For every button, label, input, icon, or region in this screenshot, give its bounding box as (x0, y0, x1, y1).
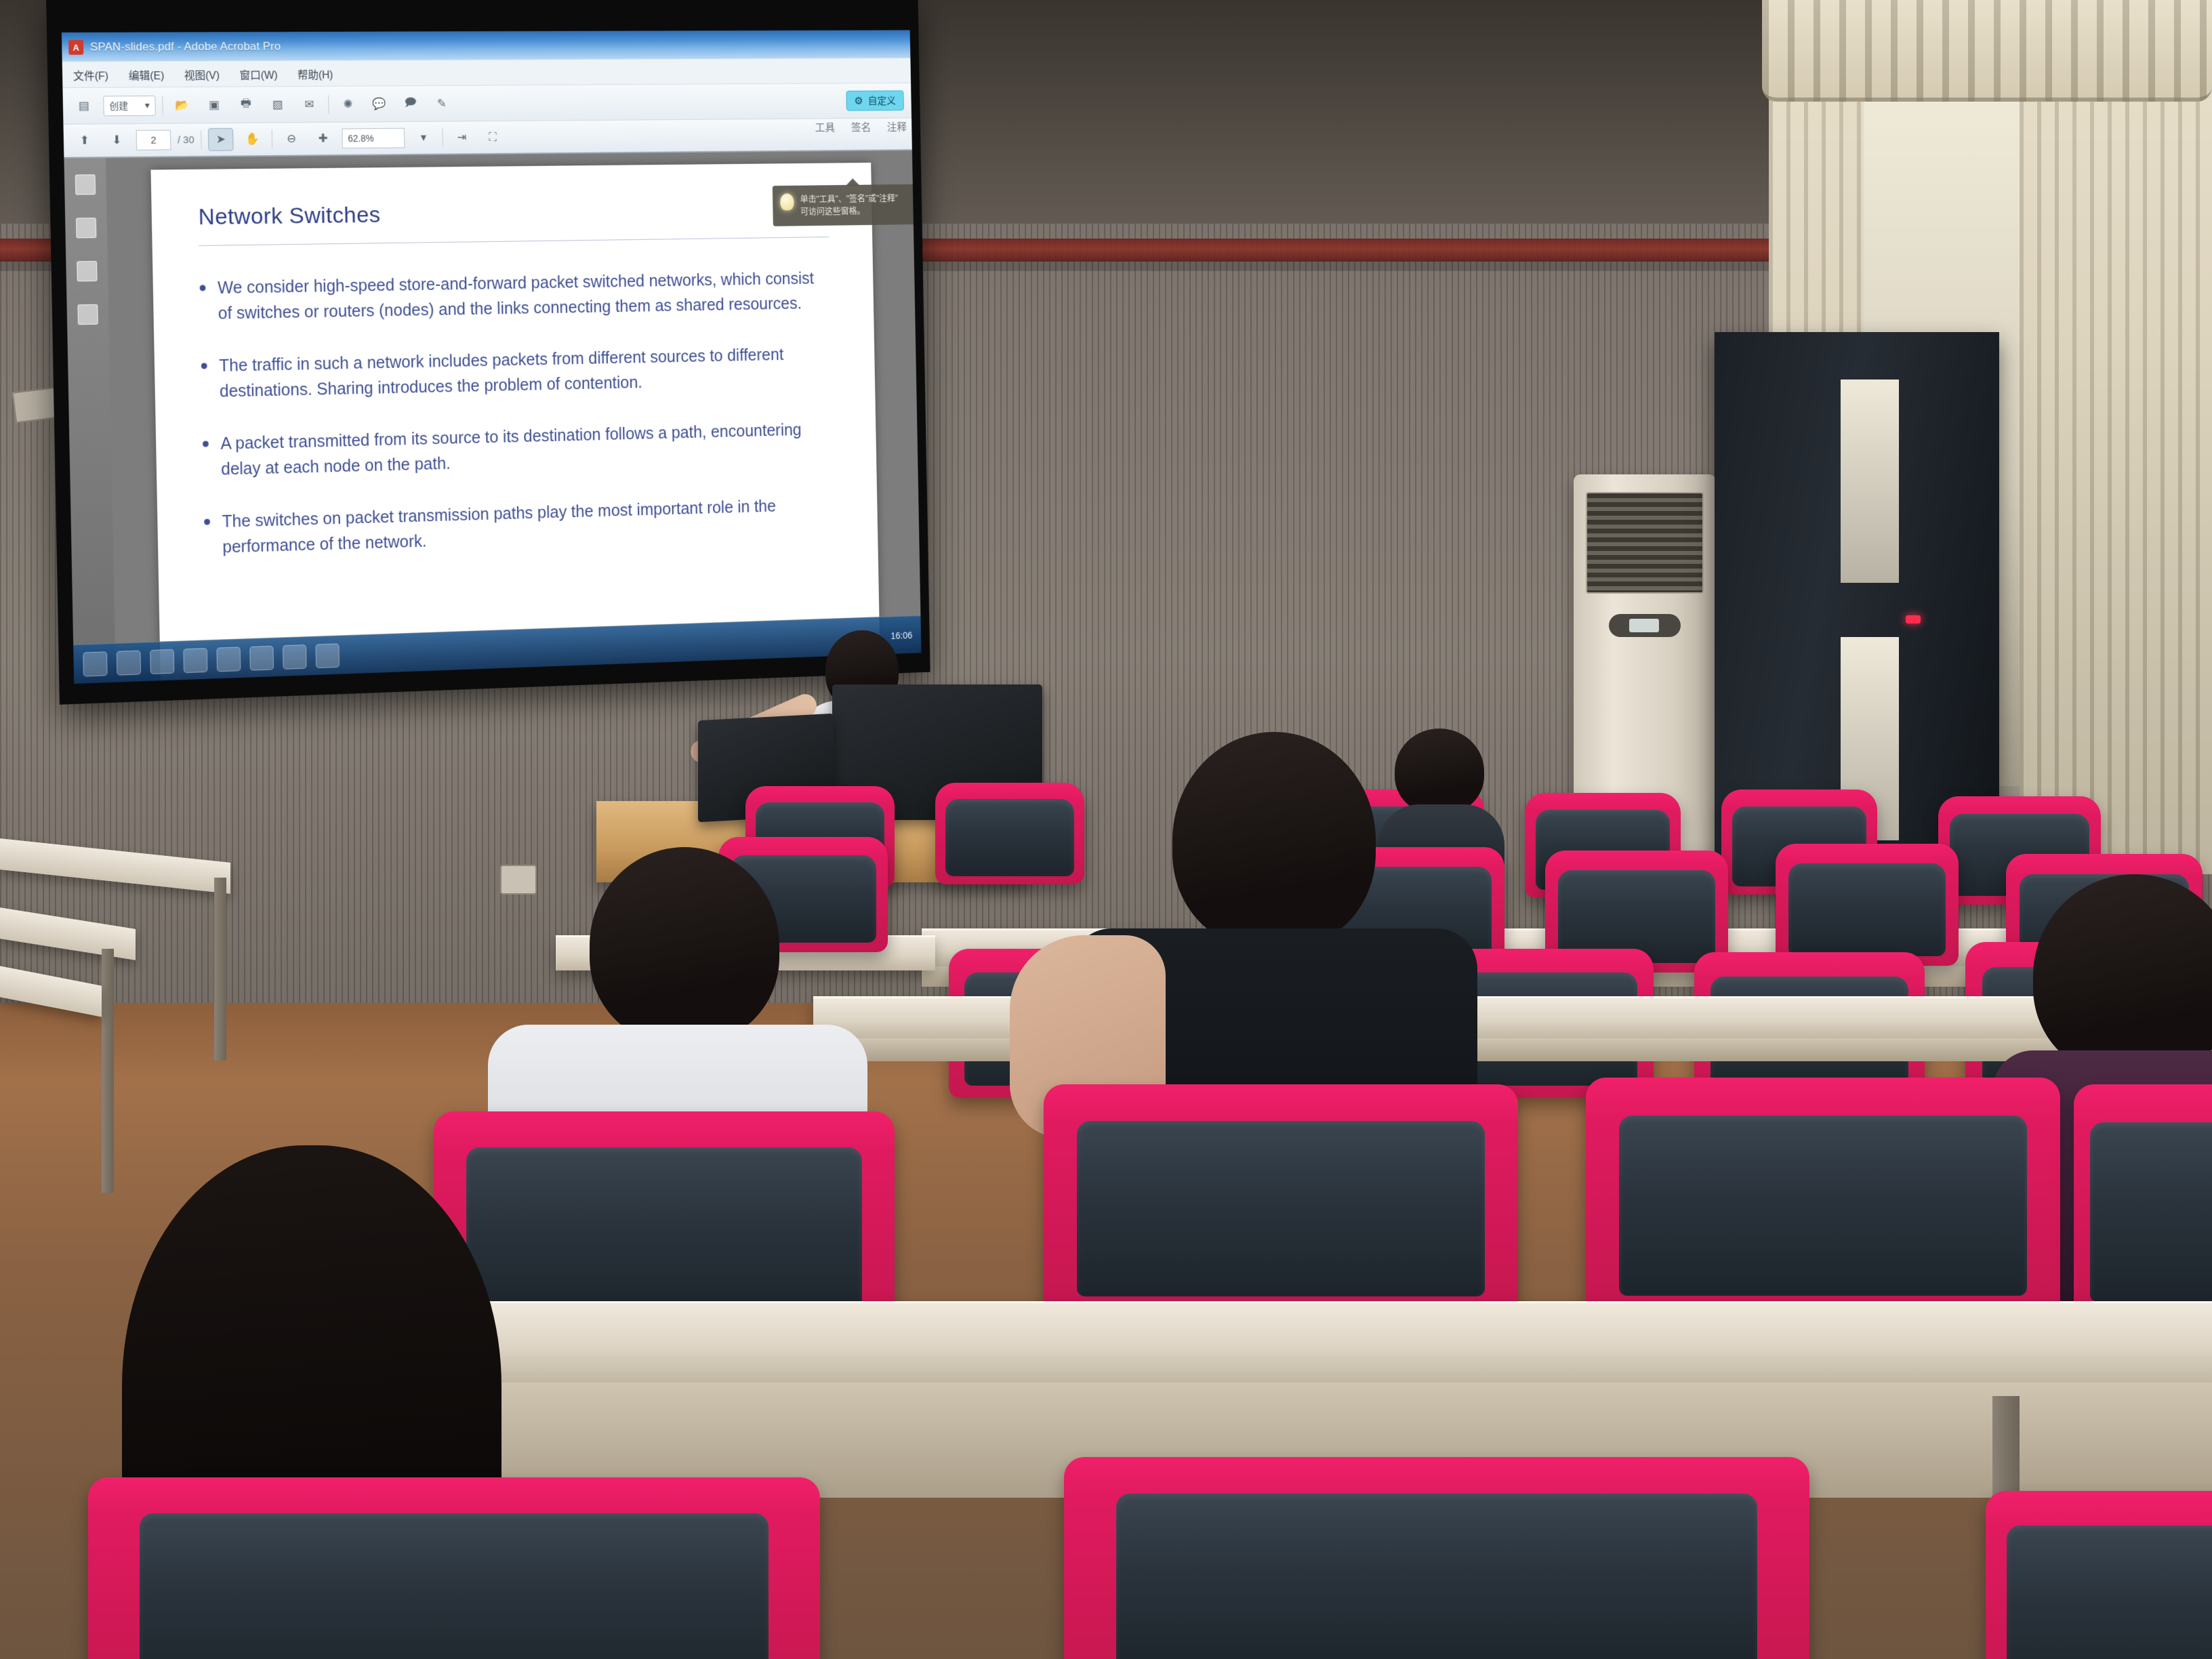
signatures-icon[interactable] (77, 304, 98, 325)
projected-desktop: A SPAN-slides.pdf - Adobe Acrobat Pro 文件… (62, 30, 922, 684)
sign-icon[interactable]: ✺ (335, 93, 361, 116)
plus-icon[interactable]: ✚ (310, 127, 335, 150)
fit-width-icon[interactable]: ⇥ (449, 126, 474, 149)
gear-icon: ⚙ (854, 94, 863, 107)
chair (1064, 1457, 1809, 1659)
bullet-dot-icon (204, 519, 210, 525)
select-cursor-icon[interactable]: ➤ (208, 128, 234, 151)
cabinet-power-led-icon (1906, 615, 1921, 623)
front-long-desk (474, 1301, 2212, 1382)
media-player-icon[interactable] (150, 649, 174, 674)
tooltip-line-2: 可访问这些窗格。 (800, 205, 865, 216)
acrobat-right-tabs: 工具 签名 注释 (815, 118, 907, 134)
customize-label: 自定义 (868, 94, 896, 107)
slide-bullet-item: The traffic in such a network includes p… (201, 342, 832, 405)
lecture-hall-scene: A SPAN-slides.pdf - Adobe Acrobat Pro 文件… (0, 0, 2212, 1659)
total-pages-label: / 30 (178, 134, 194, 146)
bullet-dot-icon (201, 363, 207, 369)
skype-icon[interactable] (283, 644, 307, 670)
curtain-valance (1762, 0, 2212, 102)
slide-bullet-item: The switches on packet transmission path… (204, 492, 834, 560)
side-desk-leg (214, 878, 226, 1061)
office-icon[interactable] (249, 645, 274, 670)
minus-icon[interactable]: ⊖ (279, 127, 304, 150)
tab-sign[interactable]: 签名 (851, 119, 872, 134)
chair (2074, 1084, 2212, 1322)
tooltip-arrow-icon (846, 178, 859, 186)
export-icon[interactable]: ▧ (265, 93, 291, 116)
chair (1586, 1078, 2060, 1315)
chevron-down-icon: ▾ (145, 100, 150, 111)
tab-tools[interactable]: 工具 (815, 119, 835, 134)
open-folder-icon[interactable]: 📂 (169, 94, 195, 117)
menu-item-window[interactable]: 窗口(W) (239, 66, 278, 82)
student-head (1172, 732, 1376, 949)
ac-grill-icon (1586, 492, 1704, 594)
tooltip-text: 单击"工具"、"签名"或"注释" 可访问这些窗格。 (800, 192, 899, 218)
attachments-icon[interactable] (77, 261, 97, 281)
side-desk-leg (102, 949, 114, 1193)
chair (88, 1477, 820, 1659)
slide-bullet-text: We consider high-speed store-and-forward… (218, 266, 830, 326)
pdf-page-scroll-area[interactable]: Network Switches We consider high-speed … (106, 150, 921, 682)
acrobat-tooltip: 单击"工具"、"签名"或"注释" 可访问这些窗格。 (773, 184, 922, 226)
ac-display-panel (1609, 614, 1681, 637)
fit-page-icon[interactable]: ⛶ (480, 126, 506, 149)
slide-bullet-text: The switches on packet transmission path… (222, 492, 834, 560)
create-dropdown-label: 创建 (109, 99, 128, 112)
slide-bullet-item: A packet transmitted from its source to … (203, 417, 834, 483)
menu-item-file[interactable]: 文件(F) (73, 66, 108, 83)
projection-screen: A SPAN-slides.pdf - Adobe Acrobat Pro 文件… (46, 0, 930, 705)
chair (1776, 844, 1959, 966)
cabinet-slot-upper (1841, 380, 1899, 583)
bullet-dot-icon (200, 285, 206, 291)
toolbar-separator (442, 128, 443, 146)
slide-bullet-list: We consider high-speed store-and-forward… (199, 266, 834, 560)
arrow-down-icon[interactable]: ⬇ (104, 129, 129, 152)
toolbar-separator (272, 129, 272, 148)
chrome-icon[interactable] (216, 647, 241, 672)
window-title: SPAN-slides.pdf - Adobe Acrobat Pro (90, 40, 281, 54)
explorer-icon[interactable] (117, 650, 141, 675)
menu-item-help[interactable]: 帮助(H) (298, 66, 333, 82)
menu-item-view[interactable]: 视图(V) (184, 66, 220, 82)
acrobat-document-area: Network Switches We consider high-speed … (64, 150, 921, 684)
curtain-right-panel (2020, 0, 2212, 874)
customize-button[interactable]: ⚙ 自定义 (846, 90, 904, 110)
acrobat-title-bar: A SPAN-slides.pdf - Adobe Acrobat Pro (62, 30, 911, 62)
highlight-icon[interactable]: ✎ (429, 92, 454, 115)
slide-title: Network Switches (198, 197, 828, 231)
zoom-level-input[interactable]: 62.8% (342, 128, 405, 148)
chevron-down-icon[interactable]: ▾ (411, 127, 436, 150)
create-dropdown[interactable]: 创建 ▾ (103, 96, 156, 116)
student-head (590, 847, 779, 1044)
acrobat-icon[interactable] (315, 643, 340, 668)
menu-item-edit[interactable]: 编辑(E) (128, 66, 164, 83)
bookmarks-icon[interactable] (76, 218, 96, 238)
ie-icon[interactable] (83, 651, 107, 676)
print-icon[interactable]: 🖶 (233, 94, 259, 117)
slide-bullet-item: We consider high-speed store-and-forward… (199, 266, 830, 327)
tooltip-line-1: 单击"工具"、"签名"或"注释" (800, 193, 899, 204)
sticky-note-icon[interactable]: 🗩 (398, 92, 423, 115)
slide-bullet-text: The traffic in such a network includes p… (219, 342, 832, 405)
bullet-dot-icon (203, 441, 209, 447)
current-page-input[interactable]: 2 (136, 130, 171, 150)
tab-comment[interactable]: 注释 (887, 118, 907, 134)
toolbar-separator (201, 130, 202, 149)
save-icon[interactable]: ▣ (201, 94, 227, 117)
student-head (2033, 874, 2212, 1078)
arrow-up-icon[interactable]: ⬆ (72, 129, 98, 152)
acrobat-icon: A (68, 40, 83, 55)
hand-icon[interactable]: ✋ (240, 128, 266, 151)
slide-bullet-text: A packet transmitted from its source to … (220, 417, 833, 483)
pdf-page: Network Switches We consider high-speed … (150, 163, 880, 680)
lightbulb-icon (780, 193, 794, 210)
folder-icon[interactable] (183, 648, 207, 673)
create-pdf-icon[interactable]: ▤ (71, 94, 97, 117)
chair (1044, 1084, 1518, 1315)
comment-balloon-icon[interactable]: 💬 (367, 92, 392, 115)
toolbar-separator (328, 95, 329, 114)
email-icon[interactable]: ✉ (297, 93, 322, 116)
toolbar-separator (162, 96, 163, 115)
acrobat-main-toolbar: ▤ 创建 ▾ 📂 ▣ 🖶 ▧ ✉ ✺ 💬 🗩 ✎ ⚙ 自定义 (62, 83, 912, 125)
page-thumbnails-icon[interactable] (75, 174, 96, 194)
chair (1986, 1491, 2212, 1659)
slide-divider (199, 237, 829, 246)
